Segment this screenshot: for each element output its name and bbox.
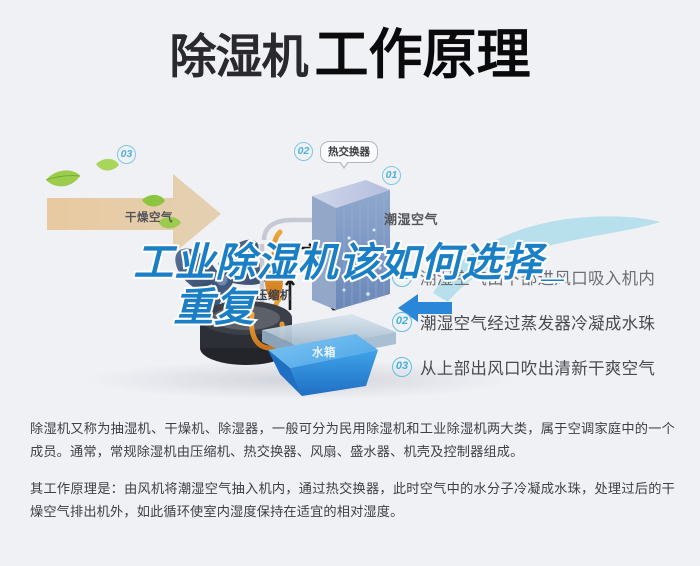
body-paragraph-2: 其工作原理是：由风机将潮湿空气抽入机内，通过热交换器，此时空气中的水分子冷凝成水…: [30, 477, 675, 523]
article-body: 除湿机又称为抽湿机、干燥机、除湿器，一般可分为民用除湿机和工业除湿机两大类，属于…: [30, 417, 675, 537]
principle-legend-list: 01 潮湿空气由下部进风口吸入机内 02 潮湿空气经过蒸发器冷凝成水珠 03 从…: [392, 254, 692, 389]
legend-item-01: 01 潮湿空气由下部进风口吸入机内: [392, 254, 692, 299]
legend-badge-01: 01: [392, 267, 412, 287]
callout-heat-exchanger: 热交换器: [320, 141, 378, 163]
body-paragraph-1: 除湿机又称为抽湿机、干燥机、除湿器，一般可分为民用除湿机和工业除湿机两大类，属于…: [30, 417, 675, 463]
page-title: 除湿机工作原理: [0, 28, 700, 82]
legend-label-03: 从上部出风口吹出清新干爽空气: [420, 355, 655, 379]
legend-badge-03: 03: [392, 357, 412, 377]
page-title-primary: 除湿机: [170, 30, 308, 83]
diagram-badge-02: 02: [294, 142, 313, 161]
diagram-badge-01: 01: [382, 166, 401, 185]
heat-exchanger-block: [312, 180, 390, 310]
legend-item-03: 03 从上部出风口吹出清新干爽空气: [392, 344, 692, 389]
diagram-badge-03: 03: [117, 145, 136, 164]
legend-label-02: 潮湿空气经过蒸发器冷凝成水珠: [420, 310, 655, 334]
legend-item-02: 02 潮湿空气经过蒸发器冷凝成水珠: [392, 299, 692, 344]
label-dry-air: 干燥空气: [125, 209, 173, 225]
label-humid-air: 潮湿空气: [384, 209, 438, 228]
legend-badge-02: 02: [392, 312, 412, 332]
label-compressor: 压缩机: [256, 287, 292, 303]
page-title-secondary: 工作原理: [315, 25, 531, 85]
legend-label-01: 潮湿空气由下部进风口吸入机内: [420, 265, 655, 289]
label-water-tank: 水箱: [312, 344, 336, 360]
